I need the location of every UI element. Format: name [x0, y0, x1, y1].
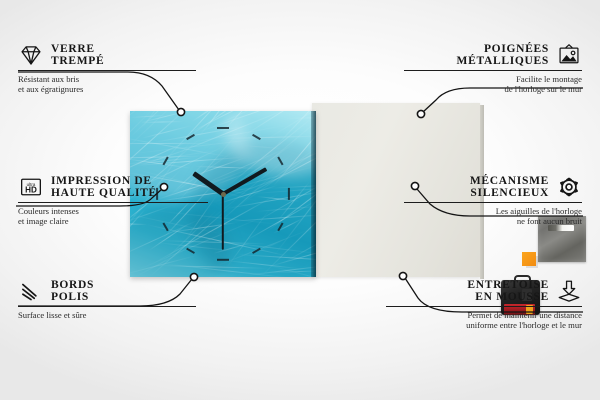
- foam-spacer-icon: [556, 278, 582, 304]
- feature-title: ENTRETOISE EN MOUSSE: [467, 279, 549, 304]
- feature-desc-line2: uniforme entre l'horloge et le mur: [386, 320, 582, 330]
- feature-divider: [404, 70, 582, 71]
- feature-desc-line1: Permet de maintenir une distance: [386, 310, 582, 320]
- clock-center-cap: [221, 192, 226, 197]
- feature-title: BORDS POLIS: [51, 279, 94, 304]
- feature-header: BORDS POLIS: [18, 278, 196, 304]
- feature-desc-line2: et aux égratignures: [18, 84, 196, 94]
- feature-entretoise-en-mousse: ENTRETOISE EN MOUSSE Permet de maintenir…: [386, 278, 582, 331]
- feature-divider: [18, 70, 196, 71]
- feature-verre-trempe: VERRE TREMPÉ Résistant aux bris et aux é…: [18, 42, 196, 95]
- feature-title: MÉCANISME SILENCIEUX: [470, 175, 549, 200]
- feature-header: ENTRETOISE EN MOUSSE: [386, 278, 582, 304]
- clock-second-hand: [222, 194, 224, 250]
- svg-text:HD: HD: [25, 186, 37, 195]
- feature-desc-line2: et image claire: [18, 216, 208, 226]
- feature-divider: [18, 202, 208, 203]
- gear-icon: [556, 174, 582, 200]
- feature-divider: [18, 306, 196, 307]
- feature-title: VERRE TREMPÉ: [51, 43, 104, 68]
- feature-header: ultra HD IMPRESSION DE HAUTE QUALITÉ: [18, 174, 208, 200]
- feature-header: VERRE TREMPÉ: [18, 42, 196, 68]
- feature-bords-polis: BORDS POLIS Surface lisse et sûre: [18, 278, 196, 320]
- feature-impression-haute-qualite: ultra HD IMPRESSION DE HAUTE QUALITÉ Cou…: [18, 174, 208, 227]
- feature-mecanisme-silencieux: MÉCANISME SILENCIEUX Les aiguilles de l'…: [404, 174, 582, 227]
- feature-desc-line2: ne font aucun bruit: [404, 216, 582, 226]
- feature-desc-line1: Surface lisse et sûre: [18, 310, 196, 320]
- polished-edges-icon: [18, 278, 44, 304]
- feature-header: POIGNÉES MÉTALLIQUES: [404, 42, 582, 68]
- feature-title: POIGNÉES MÉTALLIQUES: [457, 43, 549, 68]
- foam-spacer-part: [522, 252, 536, 266]
- infographic-page: VERRE TREMPÉ Résistant aux bris et aux é…: [0, 0, 600, 400]
- feature-desc-line1: Résistant aux bris: [18, 74, 196, 84]
- feature-header: MÉCANISME SILENCIEUX: [404, 174, 582, 200]
- ultra-hd-icon: ultra HD: [18, 174, 44, 200]
- feature-divider: [386, 306, 582, 307]
- picture-hanger-icon: [556, 42, 582, 68]
- feature-divider: [404, 202, 582, 203]
- feature-desc-line1: Couleurs intenses: [18, 206, 208, 216]
- feature-desc-line1: Facilite le montage: [404, 74, 582, 84]
- feature-desc-line2: de l'horloge sur le mur: [404, 84, 582, 94]
- feature-poignees-metalliques: POIGNÉES MÉTALLIQUES Facilite le montage…: [404, 42, 582, 95]
- feature-title: IMPRESSION DE HAUTE QUALITÉ: [51, 175, 157, 200]
- diamond-icon: [18, 42, 44, 68]
- feature-desc-line1: Les aiguilles de l'horloge: [404, 206, 582, 216]
